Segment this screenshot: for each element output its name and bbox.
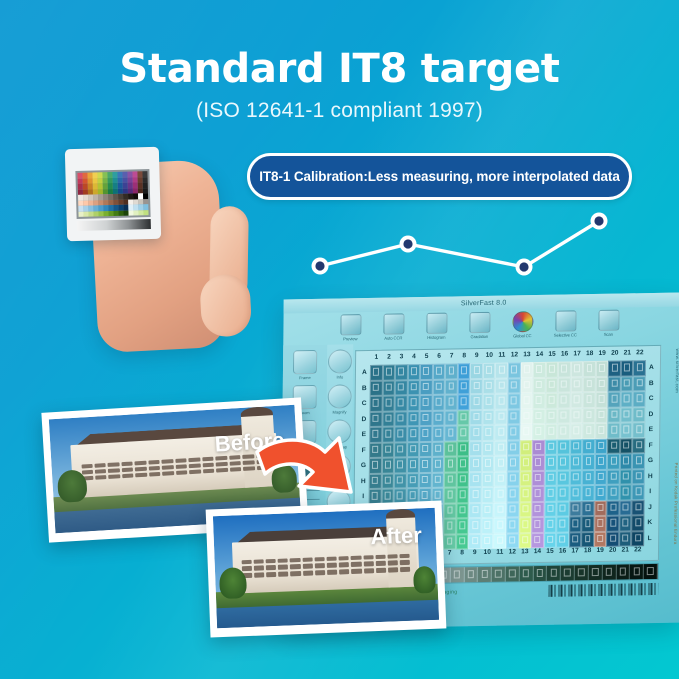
- grid-patch-H1[interactable]: [369, 473, 382, 489]
- grid-patch-B17[interactable]: [570, 377, 583, 393]
- grid-patch-K13[interactable]: [519, 517, 532, 533]
- grid-patch-B21[interactable]: [621, 376, 634, 392]
- grid-patch-A16[interactable]: [558, 361, 571, 377]
- grid-patch-C6[interactable]: [432, 395, 445, 411]
- after-photo-image: After: [213, 508, 439, 628]
- grid-patch-F8[interactable]: [457, 441, 470, 457]
- grid-patch-H22[interactable]: [632, 469, 645, 485]
- grayscale-patch-15[interactable]: [547, 566, 561, 581]
- grid-patch-G15[interactable]: [545, 455, 558, 471]
- grayscale-patch-19[interactable]: [602, 565, 616, 580]
- grid-patch-I18[interactable]: [582, 485, 595, 501]
- grid-patch-E18[interactable]: [582, 423, 595, 439]
- hand-holding-slide: [58, 140, 258, 355]
- grid-row-label: F: [645, 437, 656, 453]
- grid-patch-G20[interactable]: [607, 454, 620, 470]
- grid-patch-J17[interactable]: [569, 501, 582, 517]
- histogram-icon: [426, 313, 447, 334]
- grid-patch-D8[interactable]: [457, 410, 470, 426]
- grid-patch-F16[interactable]: [557, 439, 570, 455]
- grayscale-patch-21[interactable]: [630, 564, 644, 579]
- info-tool-icon[interactable]: [328, 349, 352, 373]
- grid-patch-F22[interactable]: [632, 438, 645, 454]
- grid-column-label: 21: [619, 546, 632, 557]
- grid-patch-E6[interactable]: [432, 426, 445, 442]
- side-tool-label: Magnify: [327, 409, 353, 414]
- grid-patch-A21[interactable]: [621, 360, 634, 376]
- grid-patch-J18[interactable]: [582, 501, 595, 517]
- grid-patch-H8[interactable]: [457, 472, 470, 488]
- grid-patch-G6[interactable]: [432, 457, 445, 473]
- grid-patch-B3[interactable]: [395, 380, 408, 396]
- grid-patch-G16[interactable]: [557, 454, 570, 470]
- grid-patch-I11[interactable]: [494, 487, 507, 503]
- grid-patch-C21[interactable]: [620, 391, 633, 407]
- grid-patch-F4[interactable]: [407, 442, 420, 458]
- grid-patch-D1[interactable]: [369, 411, 382, 427]
- grid-patch-I10[interactable]: [481, 487, 494, 503]
- grid-patch-C12[interactable]: [508, 393, 521, 409]
- grid-patch-C18[interactable]: [583, 392, 596, 408]
- grid-patch-G13[interactable]: [519, 455, 532, 471]
- grid-column-label: 19: [596, 350, 609, 361]
- grid-patch-H13[interactable]: [519, 471, 532, 487]
- grid-patch-K7[interactable]: [444, 518, 457, 534]
- grid-column-label: 19: [594, 547, 607, 558]
- grid-patch-L14[interactable]: [531, 532, 544, 548]
- grid-patch-C15[interactable]: [545, 393, 558, 409]
- page-subtitle: (ISO 12641-1 compliant 1997): [0, 99, 679, 123]
- grid-patch-K9[interactable]: [469, 518, 482, 534]
- grid-patch-A15[interactable]: [545, 362, 558, 378]
- grid-patch-B4[interactable]: [407, 380, 420, 396]
- grayscale-patch-8[interactable]: [450, 567, 464, 582]
- grid-patch-F21[interactable]: [620, 438, 633, 454]
- grid-patch-H6[interactable]: [431, 472, 444, 488]
- grid-patch-G4[interactable]: [407, 457, 420, 473]
- grid-patch-H2[interactable]: [381, 473, 394, 489]
- grid-patch-L21[interactable]: [619, 531, 632, 547]
- toolbar-button-global-cc[interactable]: Global CC: [505, 309, 539, 339]
- grid-patch-A1[interactable]: [370, 365, 383, 381]
- grid-column-label: 12: [508, 351, 521, 362]
- grid-patch-J11[interactable]: [494, 502, 507, 518]
- grid-patch-K17[interactable]: [569, 516, 582, 532]
- grid-patch-A22[interactable]: [633, 360, 646, 376]
- grid-patch-H10[interactable]: [482, 471, 495, 487]
- grayscale-patch-18[interactable]: [589, 565, 603, 580]
- grayscale-patch-16[interactable]: [561, 565, 575, 580]
- grid-patch-B1[interactable]: [370, 380, 383, 396]
- grid-patch-L13[interactable]: [519, 533, 532, 549]
- grid-patch-F12[interactable]: [507, 440, 520, 456]
- grid-column-label: 2: [383, 354, 396, 365]
- grid-patch-L17[interactable]: [569, 532, 582, 548]
- grid-patch-D16[interactable]: [558, 408, 571, 424]
- grid-patch-G11[interactable]: [494, 456, 507, 472]
- grid-patch-B10[interactable]: [483, 378, 496, 394]
- grid-patch-G12[interactable]: [507, 455, 520, 471]
- grid-patch-F10[interactable]: [482, 440, 495, 456]
- grid-patch-J15[interactable]: [544, 501, 557, 517]
- grid-patch-D11[interactable]: [495, 409, 508, 425]
- grid-patch-I22[interactable]: [632, 484, 645, 500]
- grid-patch-F13[interactable]: [520, 440, 533, 456]
- toolbar-button-selective-cc[interactable]: Selective CC: [548, 308, 582, 338]
- grid-patch-D10[interactable]: [482, 409, 495, 425]
- grid-column-label: 18: [583, 350, 596, 361]
- grid-patch-K10[interactable]: [481, 518, 494, 534]
- grid-patch-A17[interactable]: [571, 361, 584, 377]
- grid-patch-L11[interactable]: [494, 533, 507, 549]
- grid-patch-B15[interactable]: [545, 377, 558, 393]
- grid-patch-J10[interactable]: [481, 502, 494, 518]
- grid-patch-L7[interactable]: [443, 534, 456, 550]
- grid-patch-H11[interactable]: [494, 471, 507, 487]
- grid-patch-E22[interactable]: [633, 422, 646, 438]
- grid-patch-B13[interactable]: [520, 378, 533, 394]
- grayscale-patch-11[interactable]: [492, 567, 506, 582]
- grid-patch-G10[interactable]: [482, 456, 495, 472]
- grid-column-label: 18: [581, 547, 594, 558]
- grid-patch-F2[interactable]: [382, 442, 395, 458]
- grid-patch-A6[interactable]: [433, 364, 446, 380]
- grid-patch-E20[interactable]: [608, 423, 621, 439]
- grid-patch-F11[interactable]: [495, 440, 508, 456]
- grayscale-patch-17[interactable]: [575, 565, 589, 580]
- grid-patch-K8[interactable]: [456, 518, 469, 534]
- toolbar-button-auto-ccr[interactable]: Auto CCR: [376, 311, 410, 341]
- grid-patch-K20[interactable]: [607, 516, 620, 532]
- grid-patch-E10[interactable]: [482, 425, 495, 441]
- grayscale-patch-22[interactable]: [644, 564, 658, 579]
- grid-patch-E1[interactable]: [369, 427, 382, 443]
- grid-patch-H5[interactable]: [419, 472, 432, 488]
- grid-patch-A4[interactable]: [407, 364, 420, 380]
- grid-patch-A7[interactable]: [445, 363, 458, 379]
- arrow-svg: [255, 430, 365, 510]
- grid-patch-D2[interactable]: [382, 411, 395, 427]
- grid-patch-H14[interactable]: [532, 470, 545, 486]
- grid-patch-G14[interactable]: [532, 455, 545, 471]
- grid-row-headers-right: ABCDEFGHIJKL: [644, 360, 657, 546]
- toolbar-button-histogram[interactable]: Histogram: [419, 310, 453, 340]
- grid-patch-I8[interactable]: [456, 487, 469, 503]
- grid-patch-C14[interactable]: [533, 393, 546, 409]
- grid-patch-K18[interactable]: [582, 516, 595, 532]
- grid-patch-I9[interactable]: [469, 487, 482, 503]
- grid-patch-I16[interactable]: [557, 485, 570, 501]
- grid-patch-H15[interactable]: [544, 470, 557, 486]
- grid-patch-C10[interactable]: [482, 394, 495, 410]
- grid-patch-E9[interactable]: [470, 425, 483, 441]
- grid-patch-A12[interactable]: [508, 362, 521, 378]
- grid-patch-F20[interactable]: [607, 438, 620, 454]
- grid-patch-B20[interactable]: [608, 376, 621, 392]
- grid-column-label: 22: [634, 349, 647, 360]
- toolbar-button-preview[interactable]: Preview: [333, 312, 367, 342]
- grid-patch-D17[interactable]: [570, 408, 583, 424]
- grid-patch-K19[interactable]: [594, 516, 607, 532]
- grid-patch-F5[interactable]: [419, 441, 432, 457]
- grid-patch-E19[interactable]: [595, 423, 608, 439]
- grid-patch-C13[interactable]: [520, 393, 533, 409]
- grid-patch-C8[interactable]: [457, 394, 470, 410]
- grid-patch-D20[interactable]: [608, 407, 621, 423]
- grid-patch-G18[interactable]: [582, 454, 595, 470]
- grid-patch-C19[interactable]: [595, 392, 608, 408]
- grid-patch-B6[interactable]: [432, 379, 445, 395]
- grid-patch-D21[interactable]: [620, 407, 633, 423]
- grid-patch-G19[interactable]: [595, 454, 608, 470]
- grid-patch-H21[interactable]: [620, 469, 633, 485]
- grid-patch-H19[interactable]: [595, 469, 608, 485]
- grid-patch-D18[interactable]: [583, 408, 596, 424]
- grid-patch-D13[interactable]: [520, 409, 533, 425]
- grid-patch-J12[interactable]: [506, 502, 519, 518]
- grid-patch-D9[interactable]: [470, 409, 483, 425]
- grid-patch-F3[interactable]: [394, 442, 407, 458]
- scan-icon: [598, 310, 619, 331]
- grid-patch-E13[interactable]: [520, 424, 533, 440]
- grid-patch-L15[interactable]: [544, 532, 557, 548]
- grid-patch-A18[interactable]: [583, 361, 596, 377]
- grid-patch-K21[interactable]: [619, 515, 632, 531]
- grid-row-label: G: [645, 453, 656, 469]
- grid-patch-A14[interactable]: [533, 362, 546, 378]
- grid-patch-I15[interactable]: [544, 486, 557, 502]
- grid-patch-E3[interactable]: [394, 426, 407, 442]
- grid-patch-A13[interactable]: [520, 362, 533, 378]
- grid-patch-J8[interactable]: [456, 503, 469, 519]
- grid-patch-A9[interactable]: [470, 363, 483, 379]
- grid-patch-F19[interactable]: [595, 438, 608, 454]
- grid-patch-D14[interactable]: [532, 408, 545, 424]
- grid-patch-K14[interactable]: [531, 517, 544, 533]
- grid-patch-E4[interactable]: [407, 426, 420, 442]
- grid-patch-D6[interactable]: [432, 410, 445, 426]
- grid-patch-J22[interactable]: [632, 500, 645, 516]
- grid-patch-E16[interactable]: [557, 423, 570, 439]
- grid-patch-H18[interactable]: [582, 470, 595, 486]
- grid-patch-J14[interactable]: [531, 501, 544, 517]
- grid-patch-L18[interactable]: [581, 532, 594, 548]
- grid-patch-C16[interactable]: [558, 392, 571, 408]
- after-label: After: [370, 522, 422, 550]
- grid-patch-G17[interactable]: [570, 454, 583, 470]
- grid-patch-A8[interactable]: [458, 363, 471, 379]
- magnify-tool-icon[interactable]: [328, 384, 352, 408]
- grid-column-label: 22: [631, 546, 644, 557]
- grid-patch-B16[interactable]: [558, 377, 571, 393]
- grid-patch-G8[interactable]: [457, 456, 470, 472]
- grid-patch-C22[interactable]: [633, 391, 646, 407]
- grid-patch-A11[interactable]: [495, 363, 508, 379]
- barcode-icon: [549, 583, 659, 597]
- grid-patch-C3[interactable]: [395, 395, 408, 411]
- grid-patch-F18[interactable]: [582, 439, 595, 455]
- grid-patch-L19[interactable]: [594, 531, 607, 547]
- grid-patch-E5[interactable]: [419, 426, 432, 442]
- grid-patch-G2[interactable]: [381, 458, 394, 474]
- grid-patch-F7[interactable]: [444, 441, 457, 457]
- grid-patch-J13[interactable]: [519, 502, 532, 518]
- grid-patch-I13[interactable]: [519, 486, 532, 502]
- toolbar-button-scan[interactable]: Scan: [591, 307, 625, 337]
- grid-patch-G5[interactable]: [419, 457, 432, 473]
- grid-patch-A10[interactable]: [483, 363, 496, 379]
- grid-patch-E15[interactable]: [545, 424, 558, 440]
- grid-patch-J19[interactable]: [594, 500, 607, 516]
- grid-patch-L10[interactable]: [481, 533, 494, 549]
- grid-patch-L8[interactable]: [456, 534, 469, 550]
- grid-patch-H7[interactable]: [444, 472, 457, 488]
- grid-patch-B11[interactable]: [495, 378, 508, 394]
- grid-patch-I19[interactable]: [594, 485, 607, 501]
- grid-patch-J20[interactable]: [607, 500, 620, 516]
- grayscale-patch-14[interactable]: [533, 566, 547, 581]
- grid-patch-H4[interactable]: [406, 473, 419, 489]
- grid-patch-J9[interactable]: [469, 503, 482, 519]
- grid-patch-C9[interactable]: [470, 394, 483, 410]
- grid-patch-G9[interactable]: [469, 456, 482, 472]
- grid-patch-I14[interactable]: [532, 486, 545, 502]
- grid-patch-B2[interactable]: [382, 380, 395, 396]
- grid-patch-L12[interactable]: [506, 533, 519, 549]
- slide-color-grid: [77, 171, 148, 217]
- grid-patch-D12[interactable]: [507, 409, 520, 425]
- grayscale-patch-10[interactable]: [478, 567, 492, 582]
- grid-patch-C1[interactable]: [370, 396, 383, 412]
- grid-patch-D3[interactable]: [394, 411, 407, 427]
- grid-patch-D7[interactable]: [445, 410, 458, 426]
- grid-patch-B5[interactable]: [420, 379, 433, 395]
- grid-column-label: 13: [521, 351, 534, 362]
- grid-patch-F9[interactable]: [469, 440, 482, 456]
- grid-patch-B19[interactable]: [596, 376, 609, 392]
- grid-patch-G7[interactable]: [444, 456, 457, 472]
- grid-patch-A2[interactable]: [382, 365, 395, 381]
- grid-patch-K16[interactable]: [556, 516, 569, 532]
- grid-patch-C7[interactable]: [445, 394, 458, 410]
- grid-patch-A20[interactable]: [608, 361, 621, 377]
- grid-patch-C4[interactable]: [407, 395, 420, 411]
- grid-patch-L9[interactable]: [468, 534, 481, 550]
- grid-patch-B7[interactable]: [445, 379, 458, 395]
- grid-patch-I12[interactable]: [507, 486, 520, 502]
- grayscale-patch-9[interactable]: [464, 567, 478, 582]
- grid-patch-L20[interactable]: [606, 531, 619, 547]
- grid-patch-E7[interactable]: [444, 425, 457, 441]
- grid-patch-F17[interactable]: [570, 439, 583, 455]
- grid-patch-D22[interactable]: [633, 407, 646, 423]
- grayscale-patch-20[interactable]: [616, 564, 630, 579]
- grid-patch-B14[interactable]: [533, 377, 546, 393]
- grid-patch-K11[interactable]: [494, 518, 507, 534]
- toolbar-button-gradation[interactable]: Gradation: [462, 310, 496, 340]
- grid-patch-I7[interactable]: [444, 487, 457, 503]
- grid-patch-J21[interactable]: [619, 500, 632, 516]
- grid-patch-E14[interactable]: [532, 424, 545, 440]
- thumb: [199, 273, 252, 338]
- grid-patch-C17[interactable]: [570, 392, 583, 408]
- grid-patch-K22[interactable]: [632, 515, 645, 531]
- grayscale-patch-12[interactable]: [506, 566, 520, 581]
- grid-patch-E8[interactable]: [457, 425, 470, 441]
- grid-patch-G1[interactable]: [369, 458, 382, 474]
- grid-patch-I21[interactable]: [619, 484, 632, 500]
- grid-patch-H20[interactable]: [607, 469, 620, 485]
- grid-patch-B18[interactable]: [583, 377, 596, 393]
- grid-patch-F14[interactable]: [532, 439, 545, 455]
- grid-column-label: 9: [468, 549, 481, 560]
- grid-patch-H12[interactable]: [507, 471, 520, 487]
- graph-node-dot-4: [594, 216, 603, 225]
- grid-patch-B22[interactable]: [633, 376, 646, 392]
- grid-patch-B8[interactable]: [458, 379, 471, 395]
- toolbar-button-label: Gradation: [462, 334, 496, 340]
- grid-patch-C2[interactable]: [382, 396, 395, 412]
- grid-patch-E21[interactable]: [620, 422, 633, 438]
- grid-row-label: L: [644, 530, 655, 546]
- grid-patch-I17[interactable]: [569, 485, 582, 501]
- page-title: Standard IT8 target: [0, 46, 679, 92]
- grid-patch-D4[interactable]: [407, 411, 420, 427]
- grid-patch-B12[interactable]: [508, 378, 521, 394]
- grid-patch-D19[interactable]: [595, 407, 608, 423]
- frame-tool-icon[interactable]: [293, 350, 317, 374]
- grid-patch-E2[interactable]: [382, 427, 395, 443]
- grid-patch-A5[interactable]: [420, 364, 433, 380]
- grid-patch-G3[interactable]: [394, 457, 407, 473]
- grid-patch-L16[interactable]: [556, 532, 569, 548]
- grid-patch-F15[interactable]: [545, 439, 558, 455]
- grid-patch-A3[interactable]: [395, 364, 408, 380]
- grid-patch-H16[interactable]: [557, 470, 570, 486]
- grid-patch-D15[interactable]: [545, 408, 558, 424]
- grid-patch-L22[interactable]: [632, 531, 645, 547]
- grid-patch-J16[interactable]: [557, 501, 570, 517]
- grid-column-label: 10: [483, 352, 496, 363]
- grid-patch-E17[interactable]: [570, 423, 583, 439]
- grid-patch-C20[interactable]: [608, 392, 621, 408]
- grid-patch-K12[interactable]: [506, 517, 519, 533]
- grid-column-label: 1: [370, 354, 383, 365]
- grid-patch-D5[interactable]: [420, 410, 433, 426]
- grid-patch-G21[interactable]: [620, 453, 633, 469]
- grid-patch-K15[interactable]: [544, 517, 557, 533]
- grid-row-label: D: [645, 406, 656, 422]
- grid-patch-A19[interactable]: [596, 361, 609, 377]
- grid-patch-B9[interactable]: [470, 378, 483, 394]
- grid-patch-C5[interactable]: [420, 395, 433, 411]
- app-toolbar[interactable]: PreviewAuto CCRHistogramGradationGlobal …: [327, 307, 677, 345]
- grid-patch-E11[interactable]: [495, 425, 508, 441]
- grid-patch-C11[interactable]: [495, 394, 508, 410]
- grid-patch-H17[interactable]: [569, 470, 582, 486]
- grid-patch-I20[interactable]: [607, 485, 620, 501]
- grid-patch-J7[interactable]: [444, 503, 457, 519]
- grid-row-label: A: [359, 365, 370, 381]
- grid-patch-F6[interactable]: [432, 441, 445, 457]
- grid-patch-H9[interactable]: [469, 472, 482, 488]
- grid-patch-G22[interactable]: [632, 453, 645, 469]
- grid-patch-E12[interactable]: [507, 424, 520, 440]
- grayscale-patch-13[interactable]: [520, 566, 534, 581]
- grid-patch-F1[interactable]: [369, 442, 382, 458]
- grid-patch-H3[interactable]: [394, 473, 407, 489]
- grid-column-label: 14: [533, 351, 546, 362]
